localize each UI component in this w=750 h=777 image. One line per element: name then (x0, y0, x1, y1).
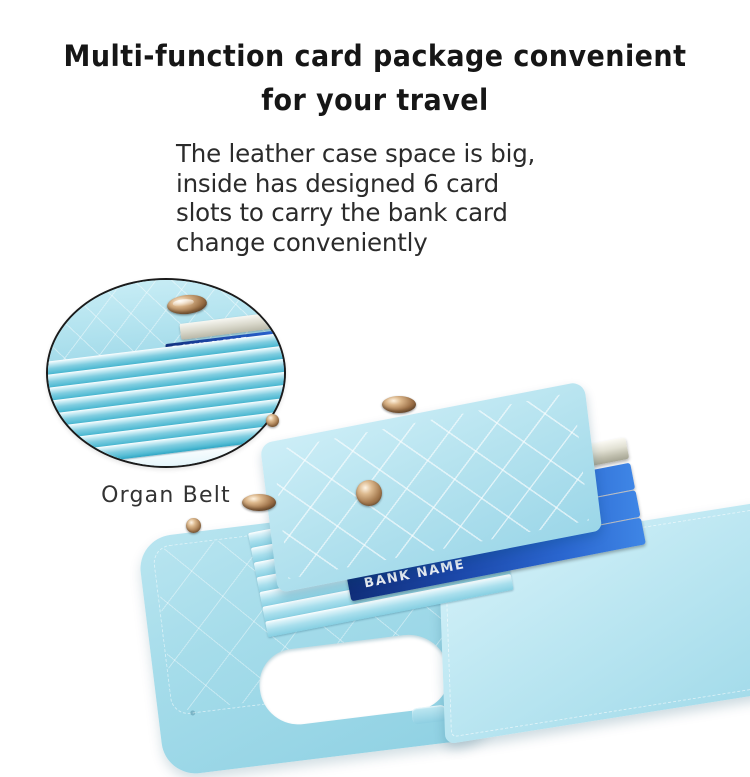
wallet-phone-case: BANK NAME BANK NAME BANK NAME BANK NAME (150, 400, 750, 750)
snap-button-icon (382, 396, 416, 413)
snap-button-icon (356, 480, 382, 506)
product-photo-stage: BANK NAME BANK NAME BANK NAME Organ Belt (0, 0, 750, 750)
microphone-hole (190, 710, 196, 716)
snap-button-icon (242, 494, 276, 511)
snap-button-icon (186, 518, 201, 533)
side-button (411, 705, 447, 725)
snap-button-icon (266, 414, 279, 427)
